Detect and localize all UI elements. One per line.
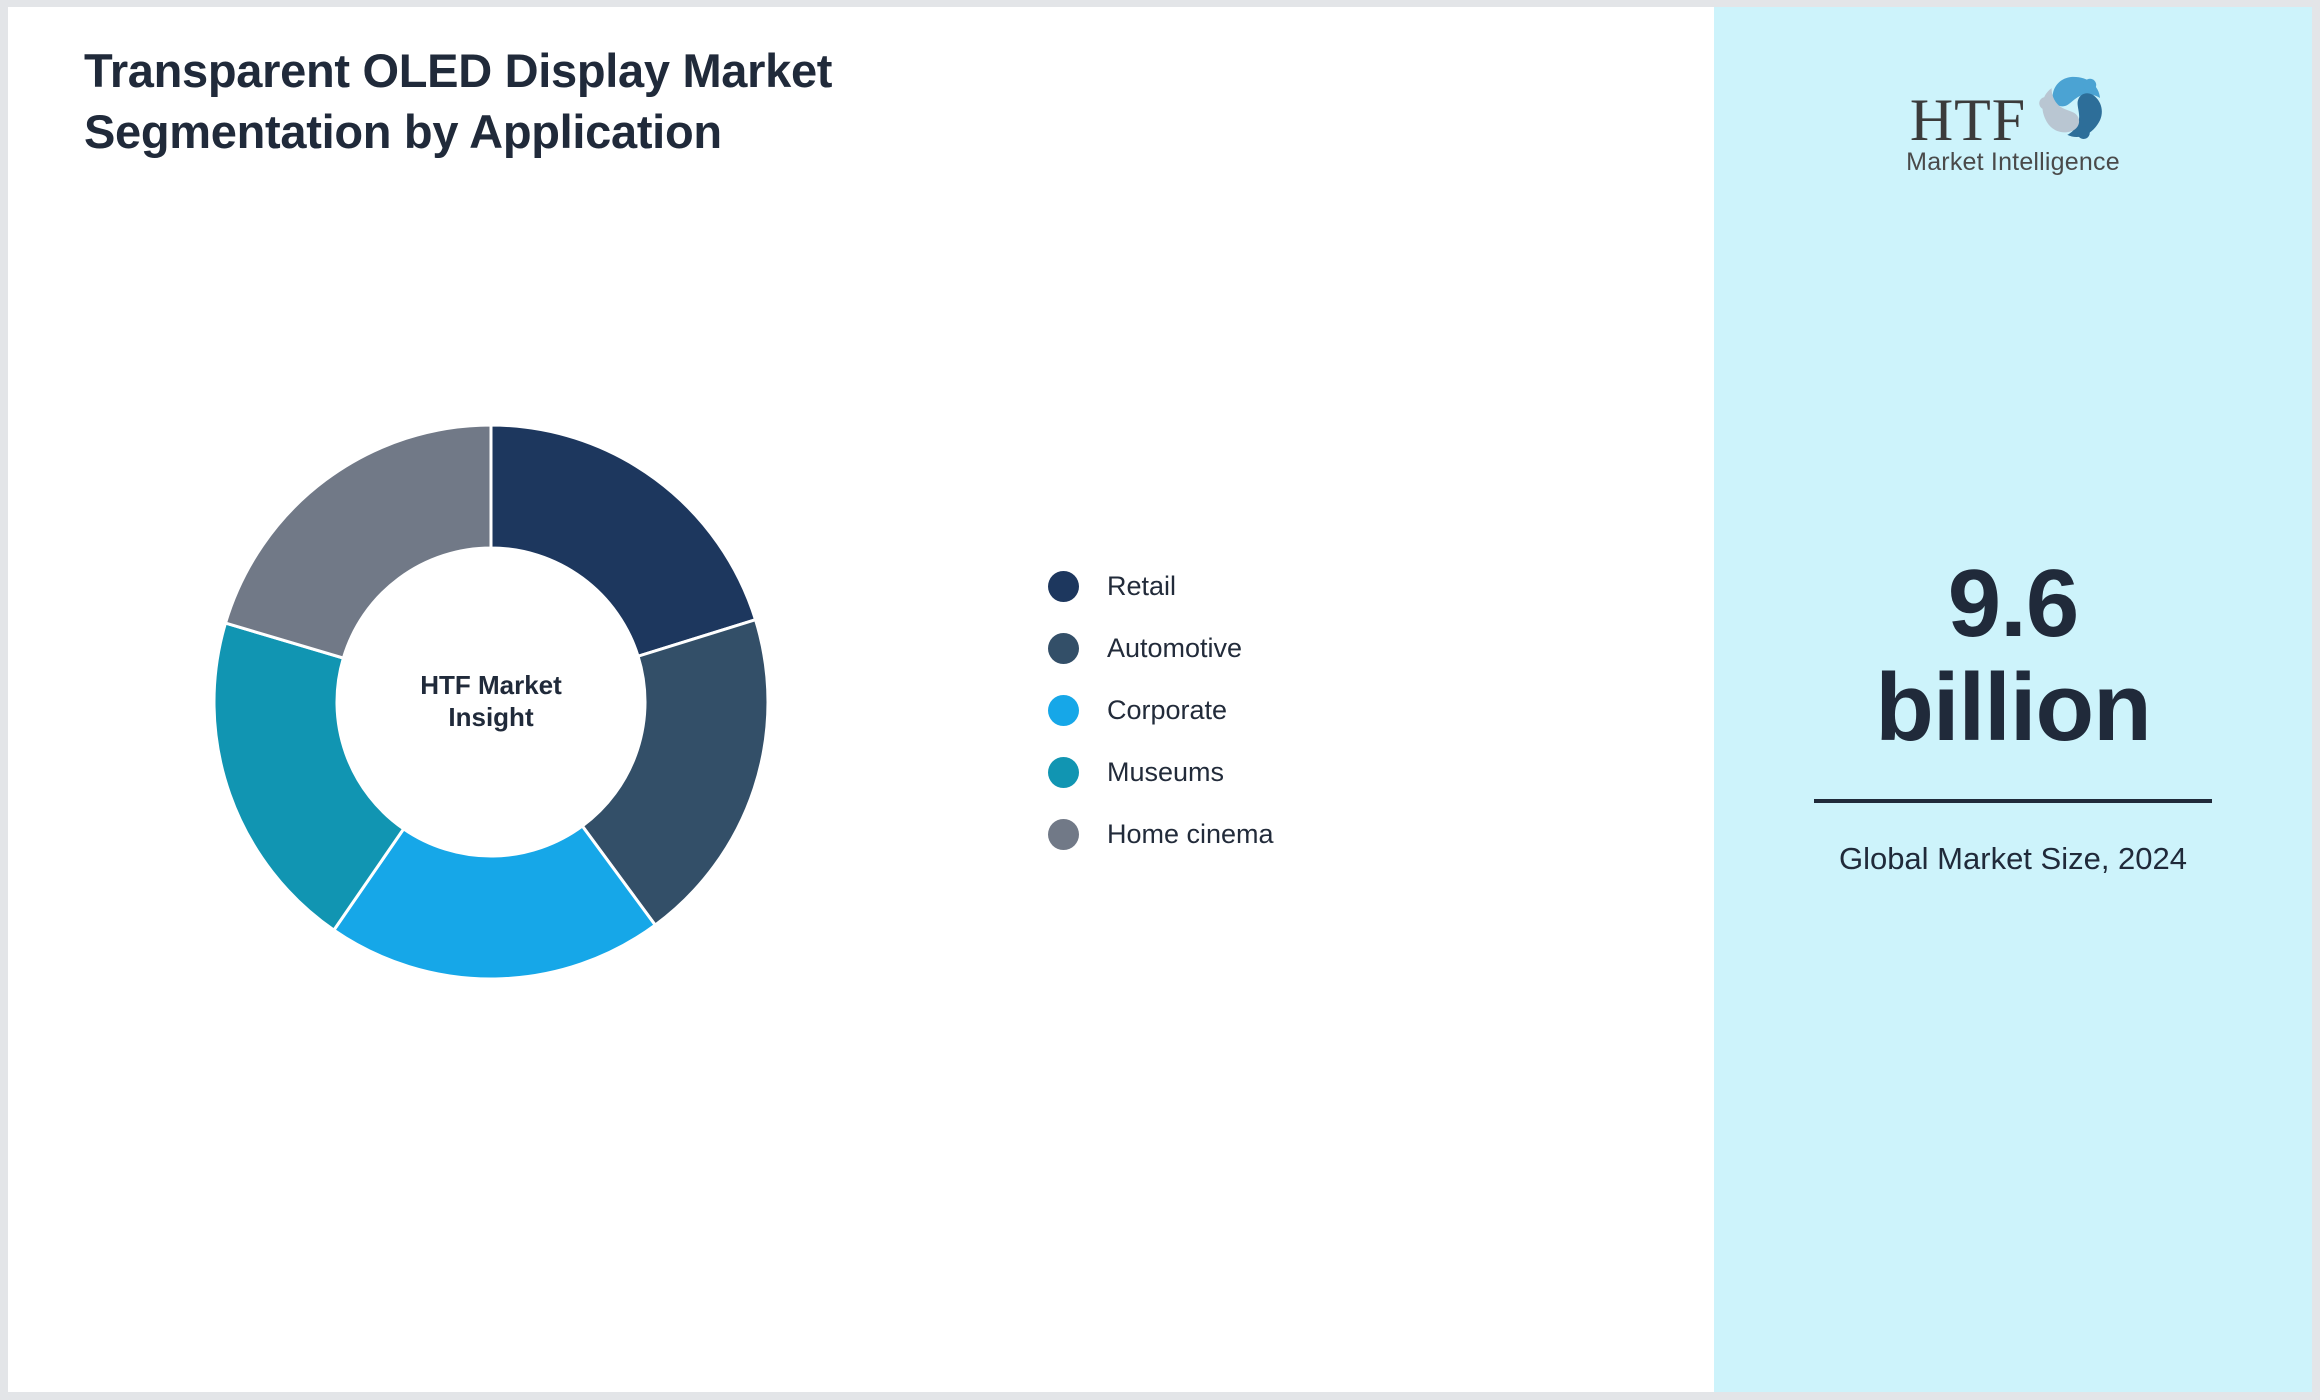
page-title: Transparent OLED Display Market Segmenta…	[84, 47, 1084, 155]
logo-wordmark: HTF	[1910, 95, 2026, 146]
donut-chart: HTF Market Insight	[206, 417, 776, 987]
stat-value-number: 9.6	[1948, 550, 2078, 657]
legend-swatch-icon	[1048, 571, 1079, 602]
stat-caption: Global Market Size, 2024	[1714, 839, 2312, 879]
legend-item-label: Museums	[1107, 757, 1224, 788]
logo-mark: HTF	[1910, 69, 2116, 146]
stat-value-unit: billion	[1714, 656, 2312, 760]
legend-swatch-icon	[1048, 819, 1079, 850]
legend-item[interactable]: Museums	[1048, 741, 1274, 803]
legend-item-label: Home cinema	[1107, 819, 1274, 850]
donut-slice-home-cinema[interactable]	[225, 425, 491, 658]
legend-swatch-icon	[1048, 757, 1079, 788]
legend-item[interactable]: Retail	[1048, 555, 1274, 617]
legend-item-label: Retail	[1107, 571, 1176, 602]
legend-item-label: Automotive	[1107, 633, 1242, 664]
left-content-panel: Transparent OLED Display Market Segmenta…	[8, 7, 1714, 1392]
logo-people-triskelion-icon	[2030, 69, 2116, 150]
legend-item-label: Corporate	[1107, 695, 1227, 726]
legend-item[interactable]: Automotive	[1048, 617, 1274, 679]
legend-swatch-icon	[1048, 633, 1079, 664]
infographic-root: Transparent OLED Display Market Segmenta…	[0, 0, 2320, 1400]
donut-slice-retail[interactable]	[491, 425, 755, 656]
legend-item[interactable]: Corporate	[1048, 679, 1274, 741]
legend-item[interactable]: Home cinema	[1048, 803, 1274, 865]
donut-chart-svg	[206, 417, 776, 987]
market-size-stat: 9.6 billion Global Market Size, 2024	[1714, 552, 2312, 879]
legend-swatch-icon	[1048, 695, 1079, 726]
logo-tagline: Market Intelligence	[1906, 148, 2120, 177]
chart-legend: RetailAutomotiveCorporateMuseumsHome cin…	[1048, 555, 1274, 865]
page-title-line-2: Segmentation by Application	[84, 108, 1084, 155]
stat-divider	[1814, 799, 2212, 803]
right-stat-panel: HTF	[1714, 7, 2312, 1392]
stat-value: 9.6 billion	[1714, 552, 2312, 759]
page-title-line-1: Transparent OLED Display Market	[84, 44, 832, 97]
htf-logo: HTF	[1714, 69, 2312, 177]
